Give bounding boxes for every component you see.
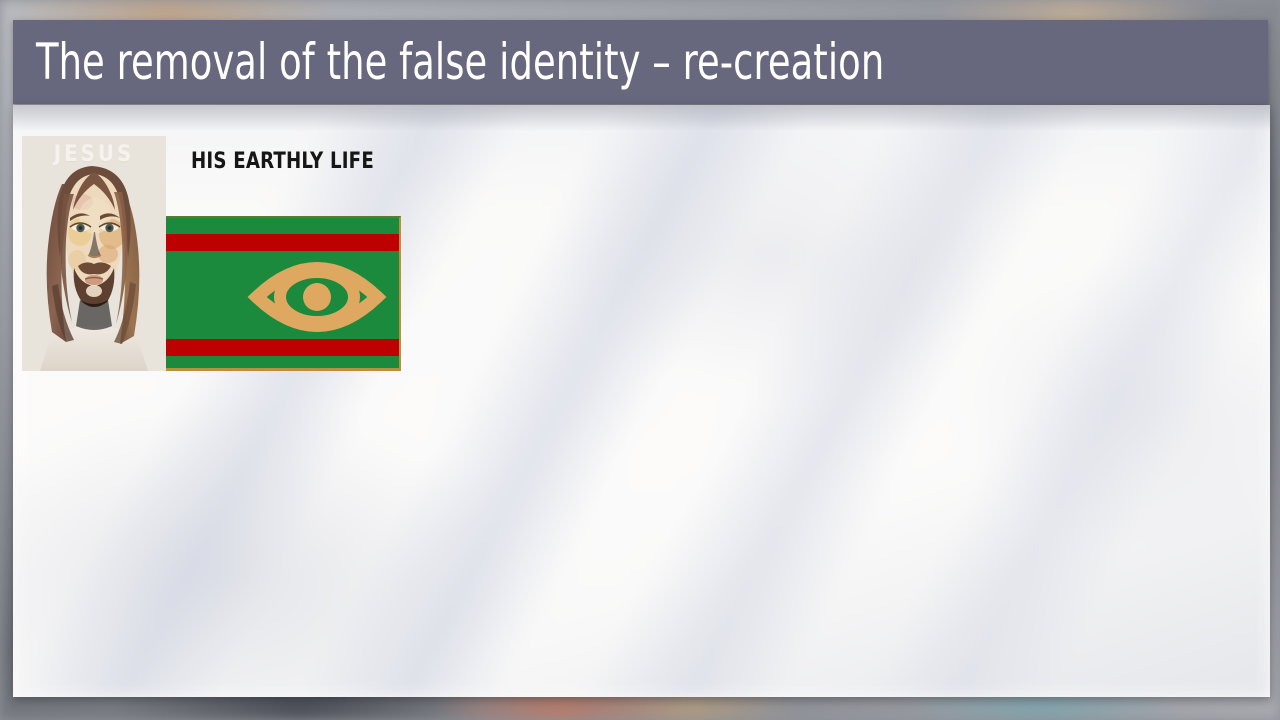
jesus-watercolor-illustration [22,136,166,371]
slide-viewer: The removal of the false identity – re-c… [0,0,1280,720]
jesus-portrait-image: JESUS [22,136,166,371]
eye-icon [166,218,399,368]
slide-content: HIS EARTHLY LIFE [0,0,1280,720]
section-heading: HIS EARTHLY LIFE [191,149,374,174]
flag-graphic [166,216,401,371]
portrait-caption: JESUS [22,142,166,167]
